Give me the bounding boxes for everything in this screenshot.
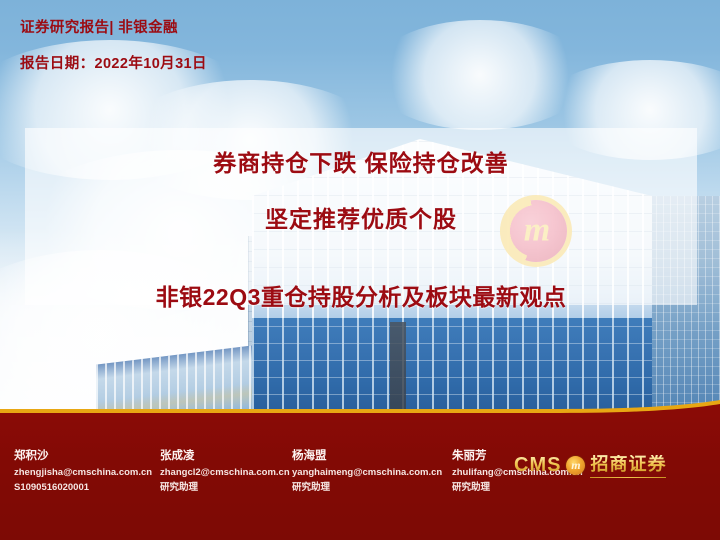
author-entry: 郑积沙 zhengjisha@cmschina.com.cn S10905160… [14, 448, 152, 495]
author-email[interactable]: yanghaimeng@cmschina.com.cn [292, 466, 442, 481]
title-block: 券商持仓下跌 保险持仓改善 坚定推荐优质个股 非银22Q3重仓持股分析及板块最新… [25, 128, 697, 305]
report-date-label: 报告日期：2022年10月31日 [20, 52, 207, 73]
cms-abbreviation: CMS [514, 455, 561, 475]
cms-emblem-icon: m [566, 456, 585, 475]
author-name: 杨海盟 [292, 448, 442, 466]
author-email[interactable]: zhangcl2@cmschina.com.cn [160, 466, 290, 481]
title-line-1: 券商持仓下跌 保险持仓改善 [213, 144, 508, 178]
cms-emblem-glyph: m [566, 456, 585, 475]
report-cover-slide: m 证券研究报告| 非银金融 报告日期：2022年10月31日 券商持仓下跌 保… [0, 0, 720, 540]
author-role: S1090516020001 [14, 481, 152, 496]
subtitle-line: 非银22Q3重仓持股分析及板块最新观点 [156, 278, 567, 312]
author-name: 张成凌 [160, 448, 290, 466]
author-role: 研究助理 [452, 481, 583, 496]
author-email[interactable]: zhengjisha@cmschina.com.cn [14, 466, 152, 481]
cms-logo: CMS m 招商证券 [514, 452, 666, 478]
cms-company-name: 招商证券 [590, 455, 666, 475]
author-entry: 杨海盟 yanghaimeng@cmschina.com.cn 研究助理 [292, 448, 442, 495]
author-entry: 张成凌 zhangcl2@cmschina.com.cn 研究助理 [160, 448, 290, 495]
author-role: 研究助理 [160, 481, 290, 496]
blue-glass-facade [252, 318, 652, 412]
title-line-2: 坚定推荐优质个股 [265, 200, 457, 234]
author-name: 郑积沙 [14, 448, 152, 466]
building-core-strip [390, 322, 406, 412]
report-category-label: 证券研究报告| 非银金融 [20, 16, 178, 37]
author-role: 研究助理 [292, 481, 442, 496]
